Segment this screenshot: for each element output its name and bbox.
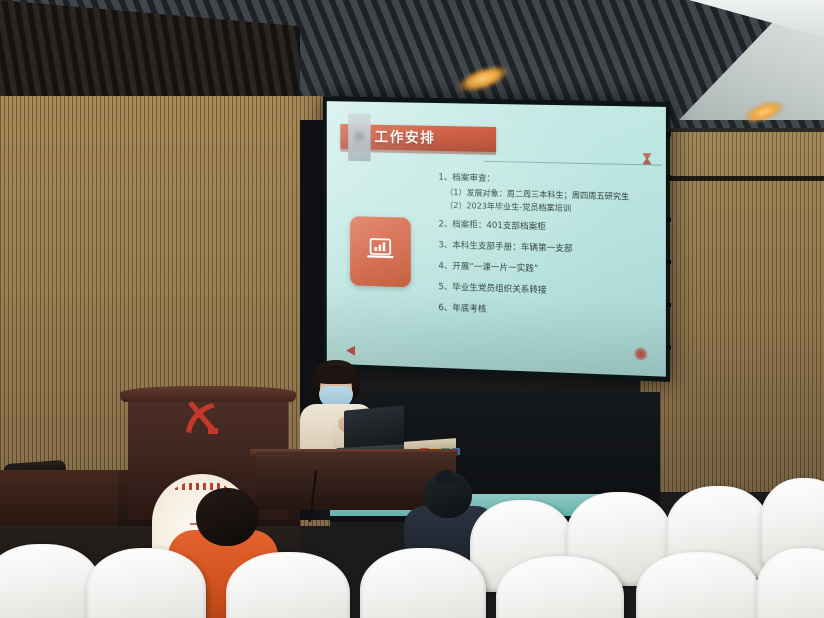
slide-bullet: 1、档案审查： （1）发展对象：周二周三本科生；周四周五研究生 （2）2023年…	[438, 173, 655, 217]
screen-frame-tick	[666, 175, 671, 179]
chart-laptop-icon-card	[350, 216, 411, 287]
red-logo-mark-icon	[642, 153, 651, 164]
slide-tab-emblem-icon	[353, 130, 366, 143]
audience-chair	[360, 548, 486, 618]
screen-frame-tick	[666, 260, 671, 264]
laptop-chart-icon	[366, 237, 395, 267]
red-circular-seal-icon	[634, 347, 647, 361]
slide-bullet: 2、档案柜：401支部档案柜	[438, 220, 655, 238]
audience-chair	[0, 544, 100, 618]
screen-frame-tick	[666, 303, 671, 307]
audience-chair	[86, 548, 206, 618]
attendee-navy-hair-bun	[436, 470, 456, 486]
slide-bullet-list: 1、档案审查： （1）发展对象：周二周三本科生；周四周五研究生 （2）2023年…	[438, 173, 655, 331]
slide-title-tab	[348, 113, 370, 161]
projected-slide: 工作安排 1、档案审查： （1）发展对象：周	[327, 101, 666, 377]
slide-bullet: 3、本科生支部手册：车辆第一支部	[438, 240, 655, 258]
red-triangle-marker-icon	[346, 345, 355, 355]
projection-screen-frame: 工作安排 1、档案审查： （1）发展对象：周	[323, 96, 670, 382]
slide-bullet: 6、年底考核	[438, 303, 655, 322]
attendee-orange-head	[196, 488, 258, 546]
slide-title-rule	[484, 161, 662, 166]
audience-chair	[636, 552, 760, 618]
screen-frame-tick	[666, 217, 671, 221]
audience-chair	[226, 552, 350, 618]
conference-hall-photo: 工作安排 1、档案审查： （1）发展对象：周	[0, 0, 824, 618]
slide-title: 工作安排	[375, 127, 494, 149]
slide-bullet-text: 1、档案审查：	[438, 173, 495, 184]
slide-bullet: 5、毕业生党员组织关系转接	[438, 282, 655, 301]
side-table	[0, 470, 118, 526]
screen-frame-tick	[666, 132, 671, 136]
hammer-and-sickle-icon	[178, 398, 224, 438]
presenter-fringe	[314, 366, 359, 384]
slide-bullet: 4、开展“一课一片一实践”	[438, 261, 655, 280]
screen-frame-tick	[666, 345, 671, 349]
